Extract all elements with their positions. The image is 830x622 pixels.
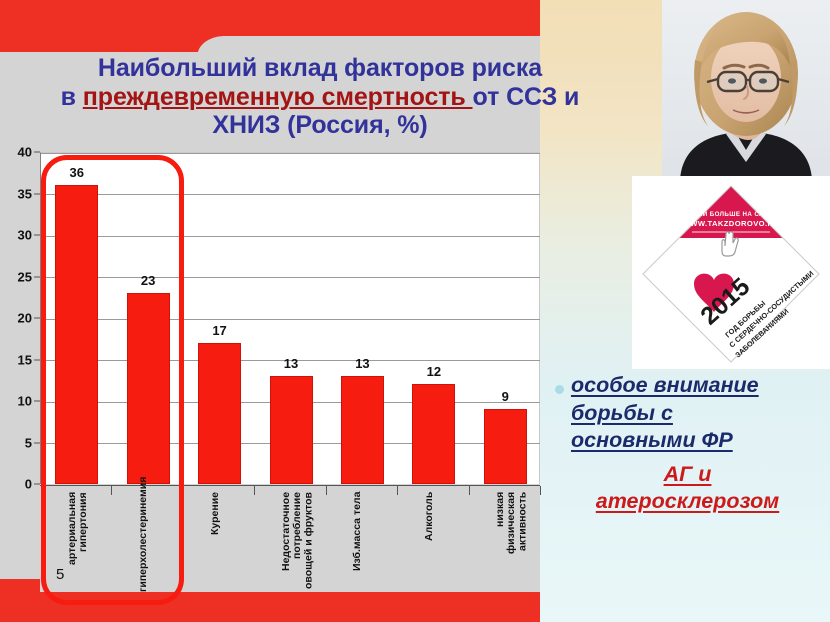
category-tick [540, 486, 541, 495]
slide-canvas: Наибольший вклад факторов риска в прежде… [0, 0, 830, 622]
bar [341, 376, 384, 484]
bar [484, 409, 527, 484]
title-line-2-prefix: в [61, 83, 83, 111]
slide-title: Наибольший вклад факторов риска в прежде… [30, 54, 610, 140]
right-emphasis-line-1: АГ и [664, 461, 712, 489]
title-line-1: Наибольший вклад факторов риска [30, 54, 610, 83]
slide-number: 5 [56, 566, 64, 583]
category-tick [397, 486, 398, 495]
bar-value-label: 17 [212, 323, 226, 338]
category-axis: артериальная гипертониягиперхолестеринем… [40, 485, 540, 592]
bar [270, 376, 313, 484]
y-axis-tick-label: 20 [18, 311, 32, 326]
category-label: артериальная гипертония [67, 492, 89, 592]
right-bullet-line-2: борьбы с [571, 400, 673, 428]
bar-value-label: 12 [427, 364, 441, 379]
category-tick [254, 486, 255, 495]
category-tick [326, 486, 327, 495]
category-label: низкая физическая активность [495, 492, 529, 592]
category-label: Недостаточное потребление овощей и фрукт… [281, 492, 315, 592]
bar-chart: 0510152025303540 3623171313129 артериаль… [0, 152, 553, 592]
bar [55, 185, 98, 484]
y-axis-tick-label: 40 [18, 145, 32, 160]
bullet-dot-icon [555, 385, 564, 394]
gridline [41, 153, 540, 154]
chart-inner: 0510152025303540 3623171313129 артериаль… [0, 152, 553, 592]
right-bullet-paragraph: особое внимание борьбы с основными ФР [571, 372, 830, 455]
bar-value-label: 13 [284, 356, 298, 371]
right-bullet-line-3: основными ФР [571, 427, 733, 455]
gridline [41, 194, 540, 195]
title-line-2-suffix: от ССЗ и [473, 83, 580, 111]
y-axis-tick-label: 0 [25, 477, 32, 492]
right-emphasis-paragraph: АГ и атеросклерозом [545, 461, 830, 516]
bar [412, 384, 455, 484]
category-label: Курение [210, 492, 221, 592]
gridline [41, 236, 540, 237]
y-axis-tick-label: 35 [18, 186, 32, 201]
title-emphasis: преждевременную смертность [83, 83, 473, 111]
y-axis-tick-label: 30 [18, 228, 32, 243]
category-label: гиперхолестеринемия [138, 492, 149, 592]
bar-value-label: 13 [355, 356, 369, 371]
bar-value-label: 23 [141, 273, 155, 288]
bar [198, 343, 241, 484]
y-axis-tick-label: 25 [18, 269, 32, 284]
category-label: Изб.масса тела [352, 492, 363, 592]
y-axis-tick-label: 10 [18, 394, 32, 409]
plot-area: 3623171313129 [40, 152, 540, 484]
bar-value-label: 9 [502, 389, 509, 404]
right-emphasis-line-2: атеросклерозом [596, 488, 779, 516]
portrait-photo [662, 0, 830, 180]
category-tick [469, 486, 470, 495]
bar [127, 293, 170, 484]
category-tick [183, 486, 184, 495]
title-line-2: в преждевременную смертность от ССЗ и [30, 83, 610, 112]
y-axis: 0510152025303540 [0, 152, 40, 484]
gridline [41, 277, 540, 278]
badge-top-line2: WWW.TAKZDOROVO.RU [683, 219, 780, 228]
category-tick [111, 486, 112, 495]
gridline [41, 319, 540, 320]
right-bullet-line-1: особое внимание [571, 372, 759, 400]
year-2015-badge: УЗНАЙ БОЛЬШЕ НА САЙТЕ WWW.TAKZDOROVO.RU … [632, 176, 830, 369]
right-text-block: особое внимание борьбы с основными ФР АГ… [545, 372, 830, 516]
badge-top-line1: УЗНАЙ БОЛЬШЕ НА САЙТЕ [685, 210, 778, 218]
bar-value-label: 36 [69, 165, 83, 180]
y-axis-tick-label: 5 [25, 435, 32, 450]
y-axis-tick-label: 15 [18, 352, 32, 367]
title-line-3: ХНИЗ (Россия, %) [30, 111, 610, 140]
category-label: Алкоголь [424, 492, 435, 592]
